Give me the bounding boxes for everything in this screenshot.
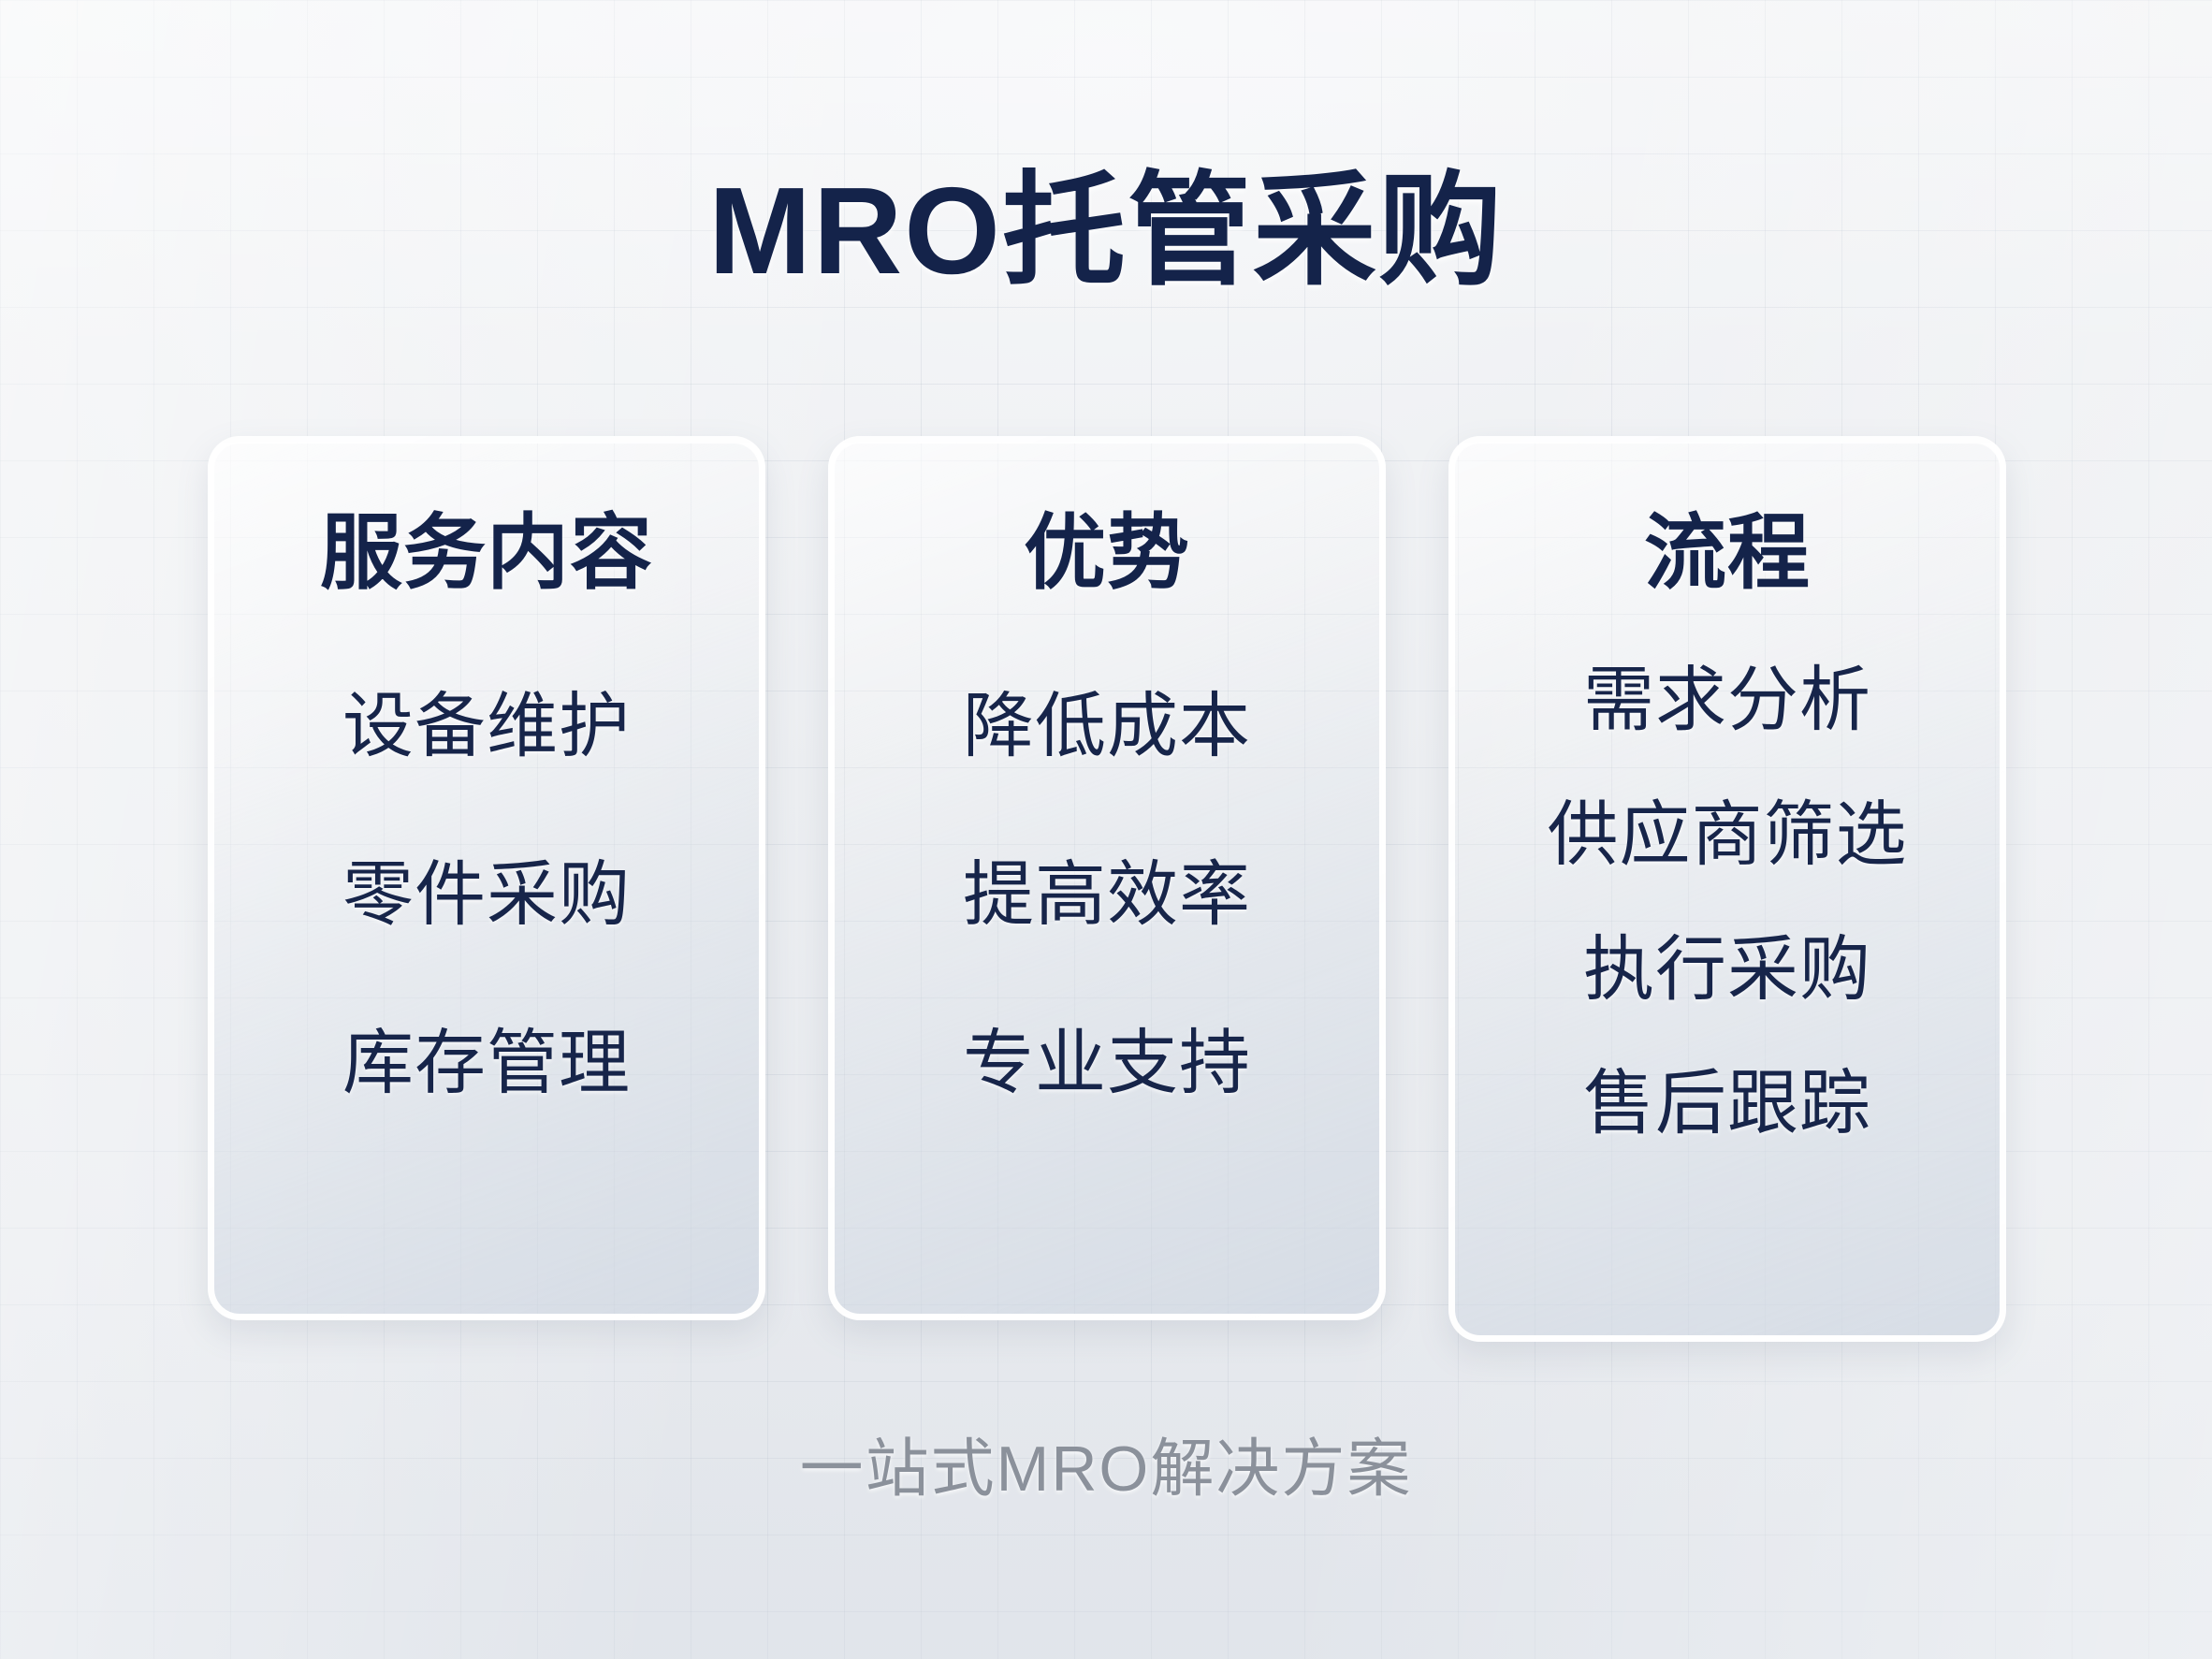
card-title: 优势: [1024, 510, 1190, 596]
card-item-list: 需求分析 供应商筛选 执行采购 售后跟踪: [1479, 609, 1975, 1171]
list-item: 专业支持: [963, 1025, 1251, 1103]
poster-canvas: MRO托管采购 服务内容 设备维护 零件采购 库存管理 优势 降低成本 提高效率…: [0, 0, 2212, 1659]
list-item: 执行采购: [1583, 931, 1871, 1010]
footer-tagline: 一站式MRO解决方案: [0, 1432, 2212, 1508]
card-title: 服务内容: [320, 510, 653, 596]
page-title: MRO托管采购: [0, 165, 2212, 298]
card-title: 流程: [1644, 510, 1811, 596]
list-item: 库存管理: [342, 1025, 631, 1103]
card-item-list: 设备维护 零件采购 库存管理: [239, 609, 735, 1147]
card-advantages[interactable]: 优势 降低成本 提高效率 专业支持: [828, 436, 1386, 1320]
list-item: 售后跟踪: [1583, 1065, 1871, 1143]
list-item: 需求分析: [1583, 662, 1871, 740]
card-process[interactable]: 流程 需求分析 供应商筛选 执行采购 售后跟踪: [1448, 436, 2006, 1342]
card-item-list: 降低成本 提高效率 专业支持: [859, 609, 1355, 1147]
list-item: 降低成本: [963, 688, 1251, 766]
list-item: 供应商筛选: [1548, 796, 1908, 875]
list-item: 零件采购: [342, 856, 631, 935]
feature-cards-row: 服务内容 设备维护 零件采购 库存管理 优势 降低成本 提高效率 专业支持 流程…: [208, 436, 2006, 1342]
list-item: 提高效率: [963, 856, 1251, 935]
list-item: 设备维护: [342, 688, 631, 766]
card-service-content[interactable]: 服务内容 设备维护 零件采购 库存管理: [208, 436, 765, 1320]
